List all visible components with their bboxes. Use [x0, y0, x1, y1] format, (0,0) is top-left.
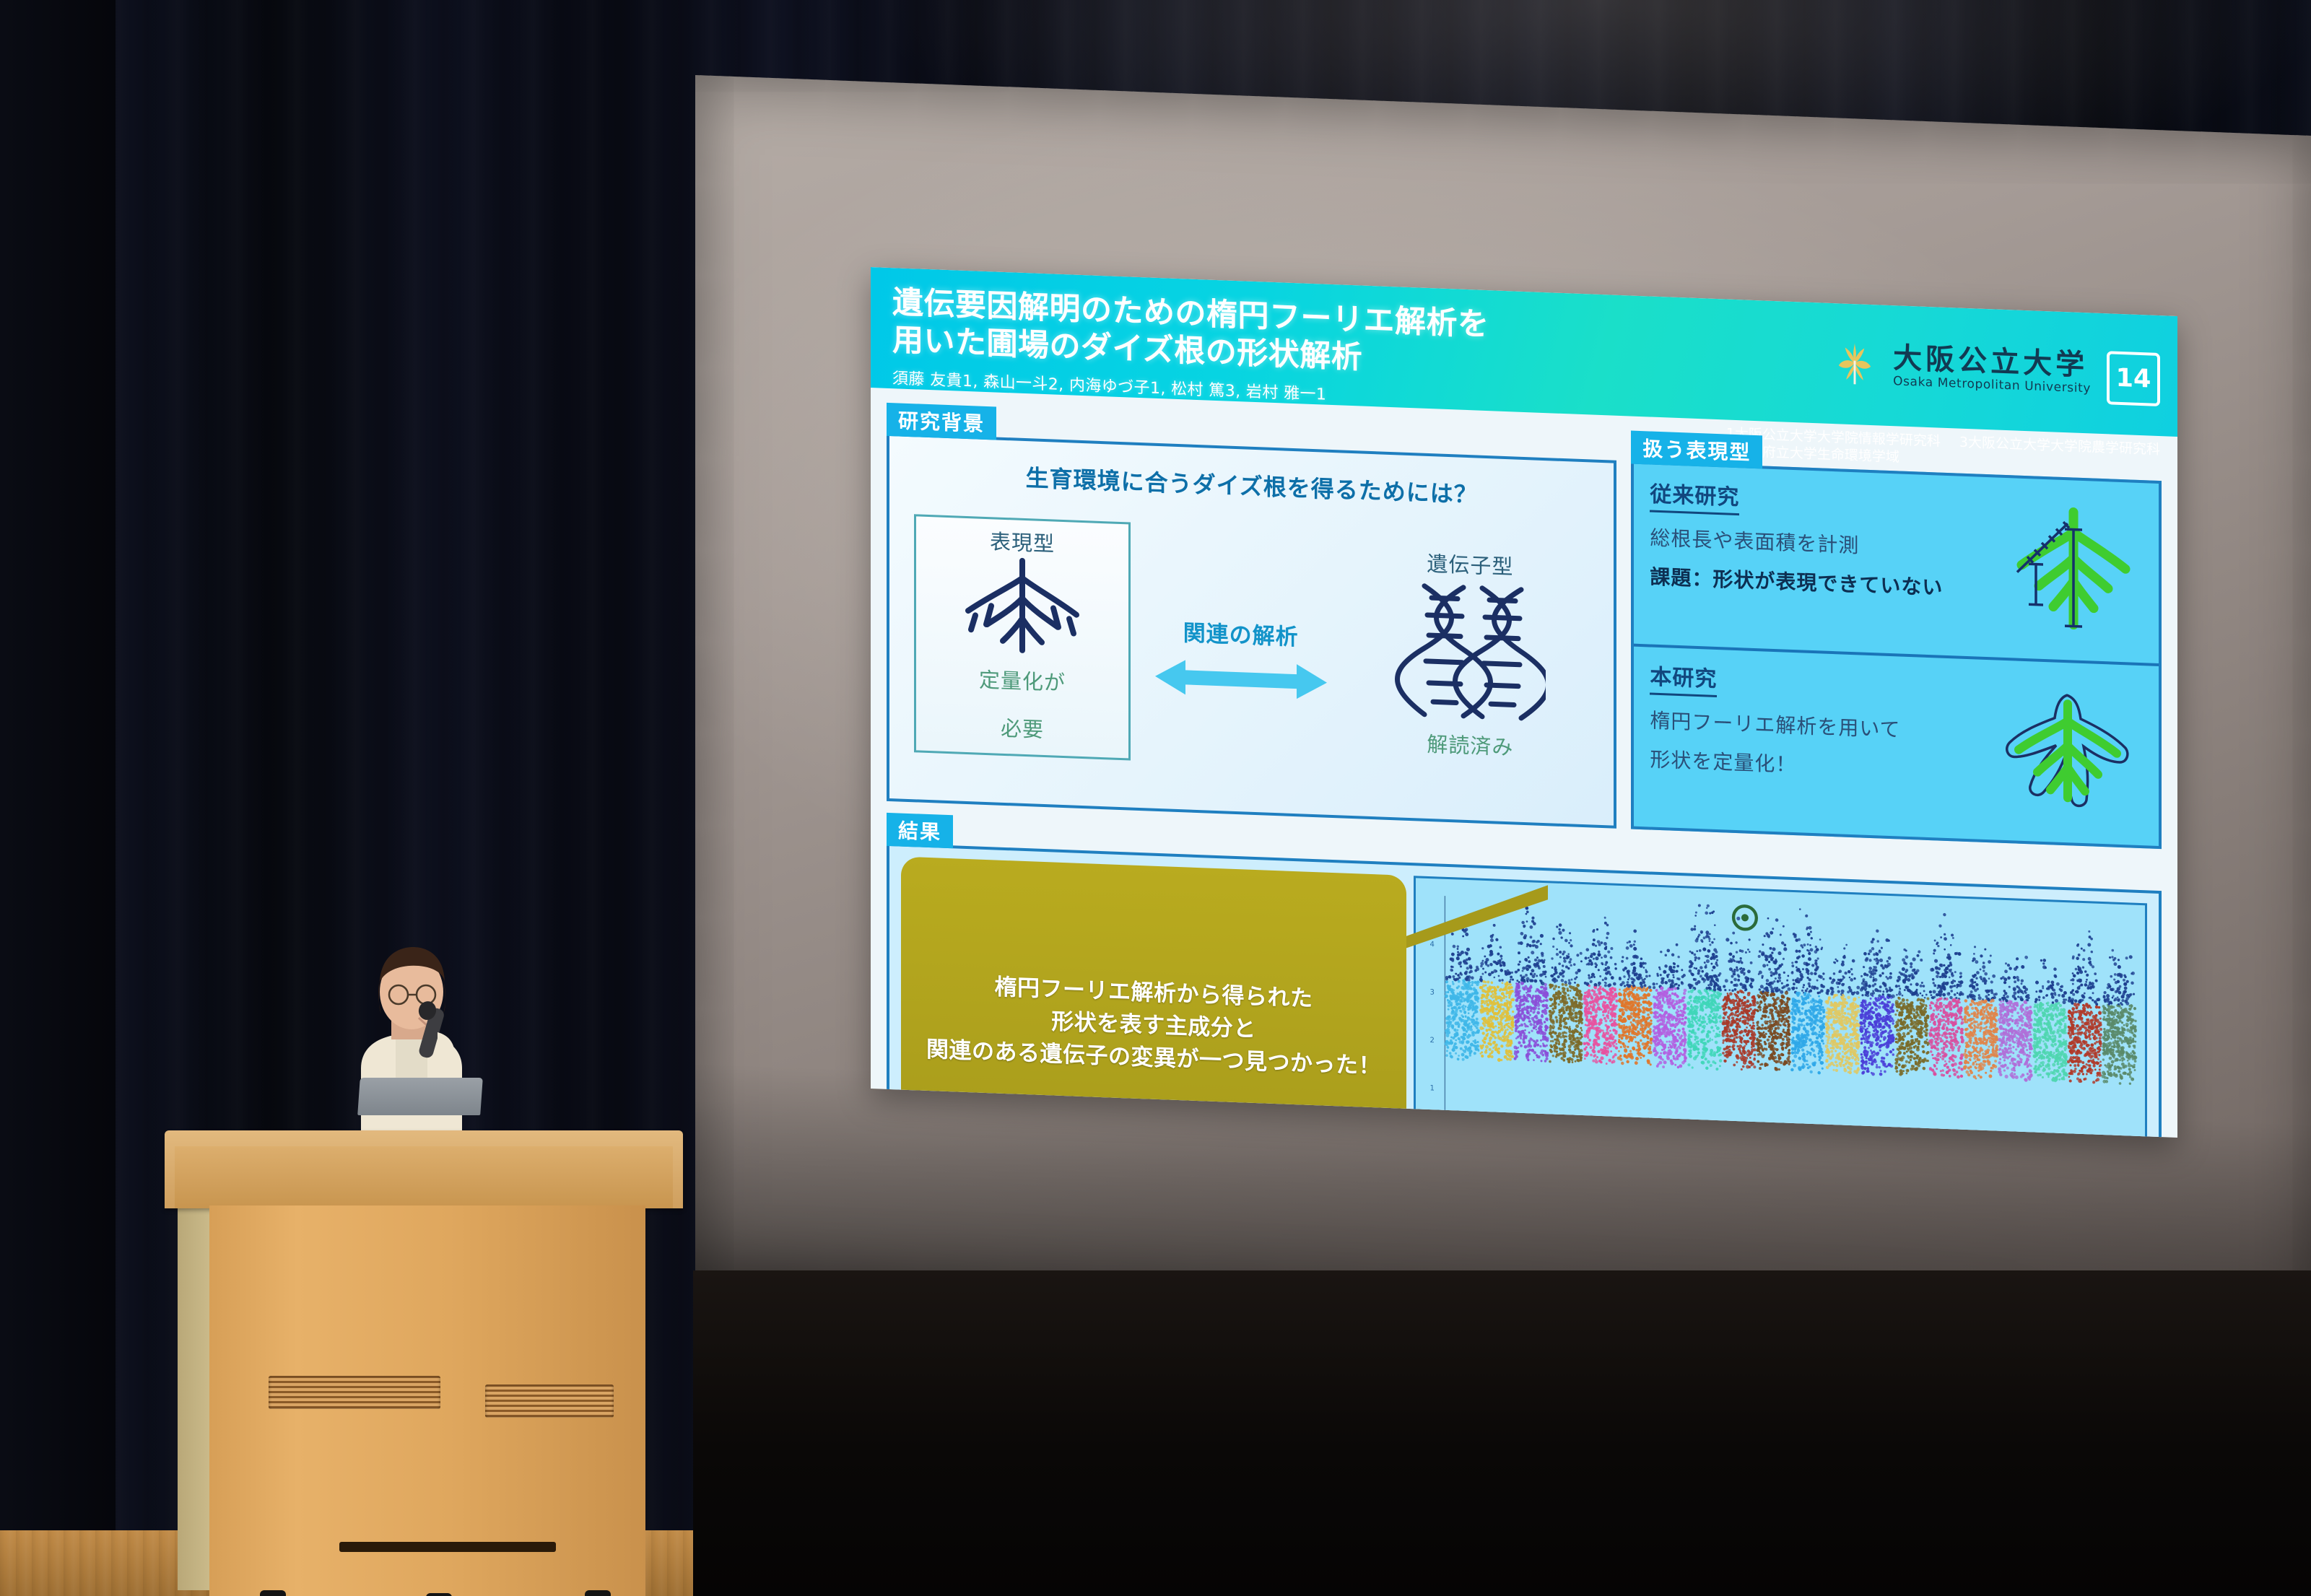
podium-top-face [175, 1146, 673, 1208]
conventional-line2: 課題：形状が表現できていない [1650, 561, 1991, 603]
conventional-line1: 総根長や表面積を計測 [1650, 522, 1991, 564]
genotype-column: 遺伝子型 [1351, 544, 1589, 764]
podium [165, 1130, 683, 1596]
slide-number: 14 [2107, 351, 2160, 406]
presenter-laptop [357, 1078, 483, 1115]
panel-tab-phenotype: 扱う表現型 [1631, 430, 1762, 468]
podium-caster-left [260, 1590, 286, 1596]
panel-results: 結果 楕円フーリエ解析から得られた 形状を表す主成分と 関連のある遺伝子の変異が… [887, 843, 2162, 1138]
phenotype-note-1: 定量化が [979, 663, 1066, 697]
podium-caster-mid [426, 1593, 452, 1596]
presentation-slide: 遺伝要因解明のための楕円フーリエ解析を 用いた圃場のダイズ根の形状解析 須藤 友… [871, 267, 2177, 1138]
phenotype-note-2: 必要 [1001, 712, 1044, 744]
panel-tab-background: 研究背景 [887, 403, 996, 440]
genotype-note: 解読済み [1427, 728, 1513, 762]
this-study-block: 本研究 楕円フーリエ解析を用いて 形状を定量化！ [1634, 644, 2159, 846]
root-outline-contour-icon [1998, 689, 2136, 816]
root-with-ruler-icon [1998, 502, 2136, 637]
podium-vent-right [485, 1384, 614, 1418]
conventional-head: 従来研究 [1650, 476, 1739, 515]
presenter [310, 938, 513, 1155]
this-study-line1: 楕円フーリエ解析を用いて [1650, 705, 1991, 746]
genotype-label: 遺伝子型 [1427, 547, 1513, 581]
podium-front [209, 1205, 645, 1596]
this-study-line2: 形状を定量化！ [1650, 744, 1991, 785]
root-shape-icon [946, 554, 1098, 668]
phenotype-box: 表現型 [914, 514, 1131, 760]
relation-column: 関連の解析 [1131, 584, 1351, 707]
dna-helix-icon [1394, 579, 1546, 729]
phenotype-label: 表現型 [990, 525, 1055, 557]
panel-research-background: 研究背景 生育環境に合うダイズ根を得るためには？ 表現型 [887, 433, 1616, 829]
podium-top [165, 1130, 683, 1208]
this-study-head: 本研究 [1650, 658, 1717, 697]
panel-target-phenotype: 扱う表現型 従来研究 総根長や表面積を計測 課題：形状が表現できていない [1631, 461, 2162, 849]
podium-slot [339, 1542, 556, 1552]
university-brand: 大阪公立大学 Osaka Metropolitan University [1828, 336, 2091, 400]
screenshot-root: 遺伝要因解明のための楕円フーリエ解析を 用いた圃場のダイズ根の形状解析 須藤 友… [0, 0, 2311, 1596]
left-wall [0, 0, 116, 1596]
conventional-research-block: 従来研究 総根長や表面積を計測 課題：形状が表現できていない [1634, 464, 2159, 663]
relation-label: 関連の解析 [1183, 615, 1299, 652]
panel-tab-results: 結果 [887, 813, 953, 848]
stage-front-shadow [693, 1270, 2311, 1596]
podium-caster-right [585, 1590, 611, 1596]
podium-vent-left [269, 1376, 440, 1409]
ginkgo-logo-icon [1828, 336, 1881, 392]
double-arrow-icon [1151, 653, 1331, 706]
